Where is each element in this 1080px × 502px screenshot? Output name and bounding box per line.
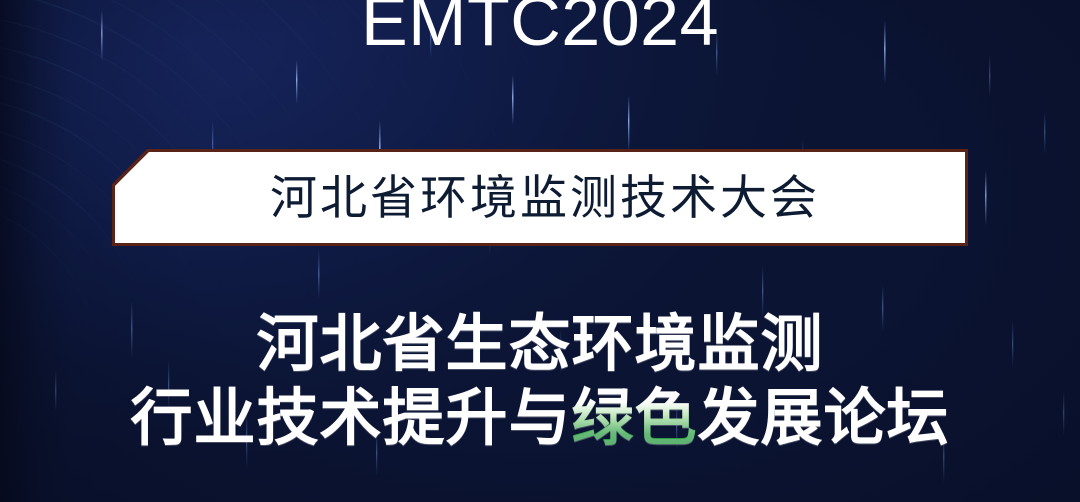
headline-line-2: 行业技术提升与绿色发展论坛 — [0, 386, 1080, 452]
conference-name-text: 河北省环境监测技术大会 — [260, 174, 820, 221]
event-code-title: EMTC2024 — [0, 0, 1080, 56]
forum-headline: 河北省生态环境监测 行业技术提升与绿色发展论坛 — [0, 312, 1080, 451]
conference-name-banner: 河北省环境监测技术大会 — [112, 149, 968, 246]
headline-line-2-part-1: 行业技术提升与 — [130, 384, 571, 453]
banner-inner: 河北省环境监测技术大会 — [115, 152, 965, 243]
headline-line-1: 河北省生态环境监测 — [0, 312, 1080, 378]
headline-green-highlight: 绿色 — [571, 384, 697, 453]
headline-line-2-part-2: 发展论坛 — [698, 384, 950, 453]
conference-poster: EMTC2024 河北省环境监测技术大会 河北省生态环境监测 行业技术提升与绿色… — [0, 0, 1080, 502]
